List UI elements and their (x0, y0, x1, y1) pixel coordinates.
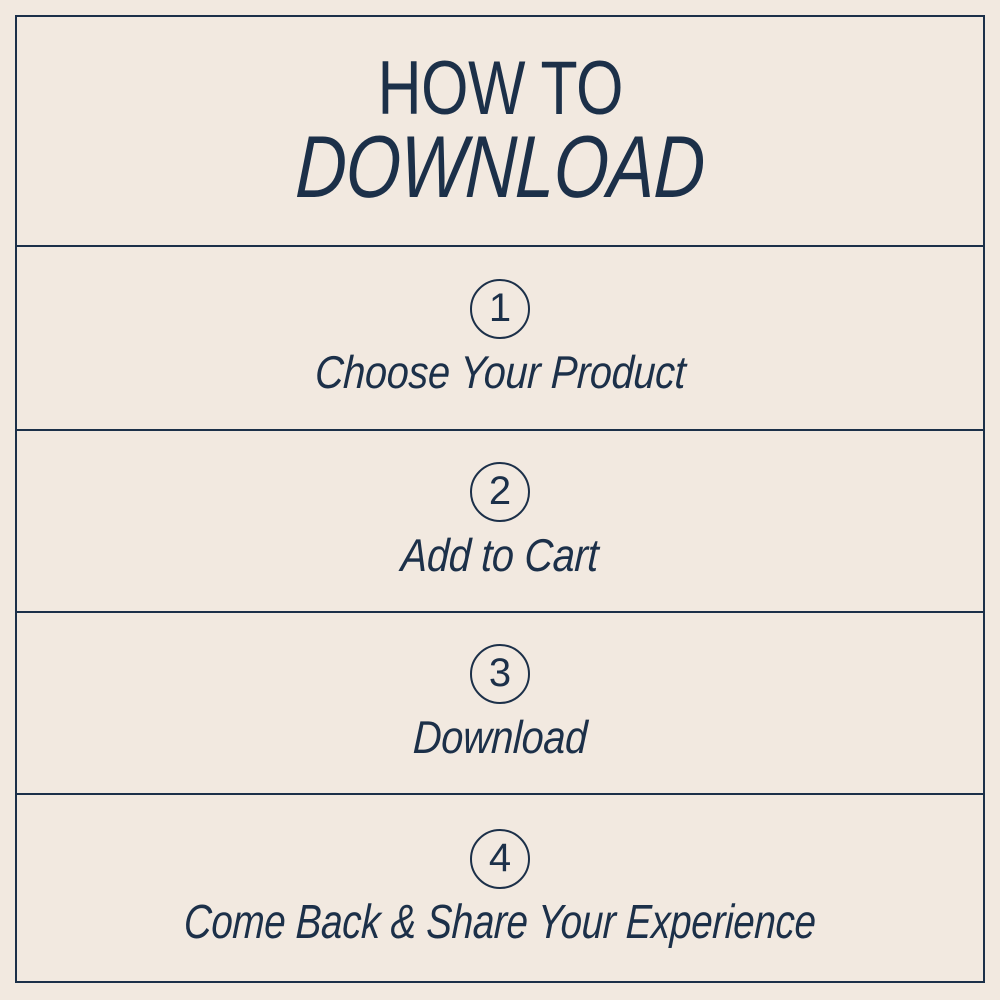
poster-canvas: HOW TO DOWNLOAD 1 Choose Your Product 2 … (0, 0, 1000, 1000)
step-row: 1 Choose Your Product (17, 247, 983, 432)
header-band: HOW TO DOWNLOAD (17, 17, 983, 247)
step-row: 3 Download (17, 613, 983, 796)
bordered-frame: HOW TO DOWNLOAD 1 Choose Your Product 2 … (15, 15, 985, 983)
step-number-badge: 4 (470, 829, 530, 889)
step-row: 2 Add to Cart (17, 431, 983, 613)
step-number-badge: 1 (470, 279, 530, 339)
page-title-line-2: DOWNLOAD (294, 126, 706, 209)
step-number-badge: 3 (470, 644, 530, 704)
step-label: Come Back & Share Your Experience (183, 898, 817, 948)
step-label: Download (412, 713, 588, 761)
step-row: 4 Come Back & Share Your Experience (17, 795, 983, 981)
step-label: Add to Cart (400, 531, 599, 579)
step-number-badge: 2 (470, 462, 530, 522)
step-label: Choose Your Product (314, 348, 687, 396)
page-title-line-1: HOW TO (377, 53, 622, 124)
